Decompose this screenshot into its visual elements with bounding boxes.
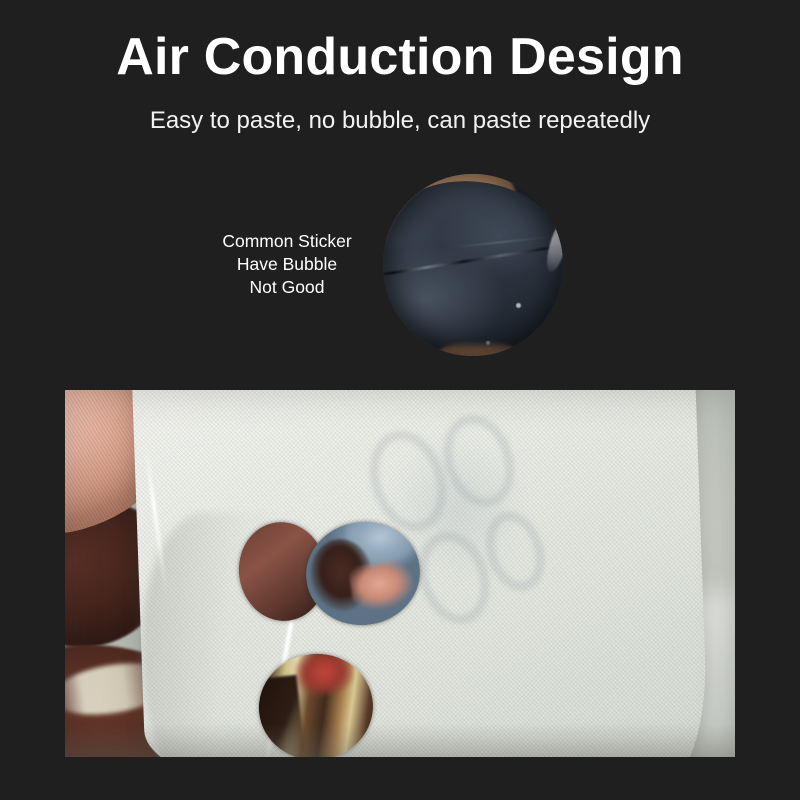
photo-bottom-shadow: [65, 724, 735, 757]
hole-content-red: [292, 649, 356, 699]
annotation-line-2: Have Bubble: [205, 253, 369, 276]
adhesive-backing-sheet: [131, 390, 709, 757]
common-sticker-closeup-photo: [383, 174, 563, 356]
inset-vignette: [383, 174, 563, 356]
page-title: Air Conduction Design: [0, 29, 800, 85]
annotation-line-3: Not Good: [205, 276, 369, 299]
hole-content-skin: [348, 558, 418, 614]
page-subtitle: Easy to paste, no bubble, can paste repe…: [0, 106, 800, 136]
main-product-photo: [65, 390, 735, 757]
annotation-line-1: Common Sticker: [205, 230, 369, 253]
annotation-label: Common Sticker Have Bubble Not Good: [205, 230, 369, 299]
product-feature-slide: Air Conduction Design Easy to paste, no …: [0, 0, 800, 800]
